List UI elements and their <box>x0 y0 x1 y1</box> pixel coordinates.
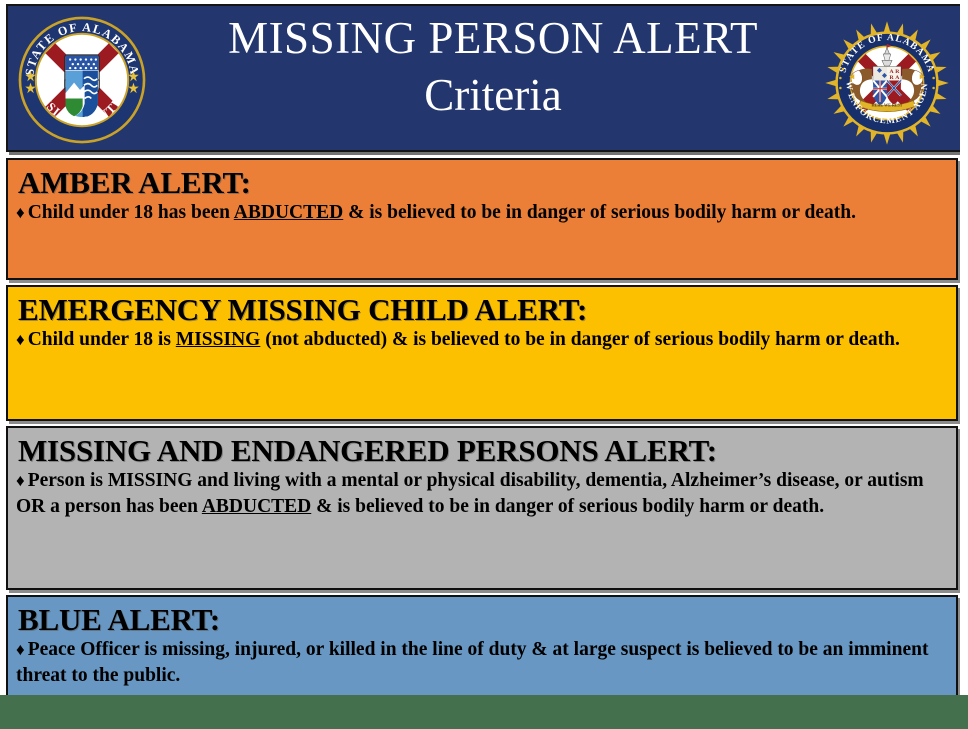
diamond-bullet-icon: ♦ <box>16 203 28 222</box>
alert-body-text-part: Child under 18 has been <box>28 202 234 223</box>
alert-body-keyword: ABDUCTED <box>234 202 343 223</box>
alabama-fusion-center-seal: STATE OF ALABAMA FUSION CENTER <box>16 14 148 146</box>
alert-body-keyword: ABDUCTED <box>202 496 311 517</box>
alert-body-text-part: Child under 18 is <box>28 329 176 350</box>
sheet-top-margin <box>0 0 968 4</box>
alert-heading-blue: BLUE ALERT: <box>18 603 950 636</box>
alert-band-missing-and-endangered-persons: MISSING AND ENDANGERED PERSONS ALERT: ♦P… <box>6 426 958 590</box>
slide-sheet: STATE OF ALABAMA FUSION CENTER MISSING P… <box>0 0 968 695</box>
header-title-block: MISSING PERSON ALERT Criteria <box>173 10 813 118</box>
alert-band-blue: BLUE ALERT: ♦Peace Officer is missing, i… <box>6 595 958 695</box>
page-subtitle: Criteria <box>173 61 813 118</box>
alabama-law-enforcement-agency-seal: AR RA <box>824 14 950 152</box>
alert-body-blue: ♦Peace Officer is missing, injured, or k… <box>16 637 950 689</box>
alert-body-text-part: & is believed to be in danger of serious… <box>311 496 824 517</box>
diamond-bullet-icon: ♦ <box>16 330 28 349</box>
diamond-bullet-icon: ♦ <box>16 640 28 659</box>
alert-heading-missing-and-endangered-persons: MISSING AND ENDANGERED PERSONS ALERT: <box>18 434 950 467</box>
svg-text:HERE WE REST: HERE WE REST <box>872 102 903 107</box>
sheet-right-margin <box>960 0 968 695</box>
alert-body-keyword: MISSING <box>176 329 261 350</box>
alert-heading-emergency-missing-child: EMERGENCY MISSING CHILD ALERT: <box>18 293 950 326</box>
alert-band-emergency-missing-child: EMERGENCY MISSING CHILD ALERT: ♦Child un… <box>6 285 958 421</box>
alert-body-emergency-missing-child: ♦Child under 18 is MISSING (not abducted… <box>16 327 950 353</box>
alert-body-missing-and-endangered-persons: ♦Person is MISSING and living with a men… <box>16 468 950 520</box>
alert-body-text-part: Peace Officer is missing, injured, or ki… <box>16 639 928 686</box>
header-banner: STATE OF ALABAMA FUSION CENTER MISSING P… <box>6 4 962 152</box>
alert-heading-amber: AMBER ALERT: <box>18 166 950 199</box>
page-title: MISSING PERSON ALERT <box>173 10 813 61</box>
diamond-bullet-icon: ♦ <box>16 471 28 490</box>
alert-body-amber: ♦Child under 18 has been ABDUCTED & is b… <box>16 200 950 226</box>
slide-page: STATE OF ALABAMA FUSION CENTER MISSING P… <box>0 0 968 729</box>
alert-body-text-part: (not abducted) & is believed to be in da… <box>260 329 900 350</box>
alert-band-amber: AMBER ALERT: ♦Child under 18 has been AB… <box>6 158 958 280</box>
alert-body-text-part: & is believed to be in danger of serious… <box>343 202 856 223</box>
